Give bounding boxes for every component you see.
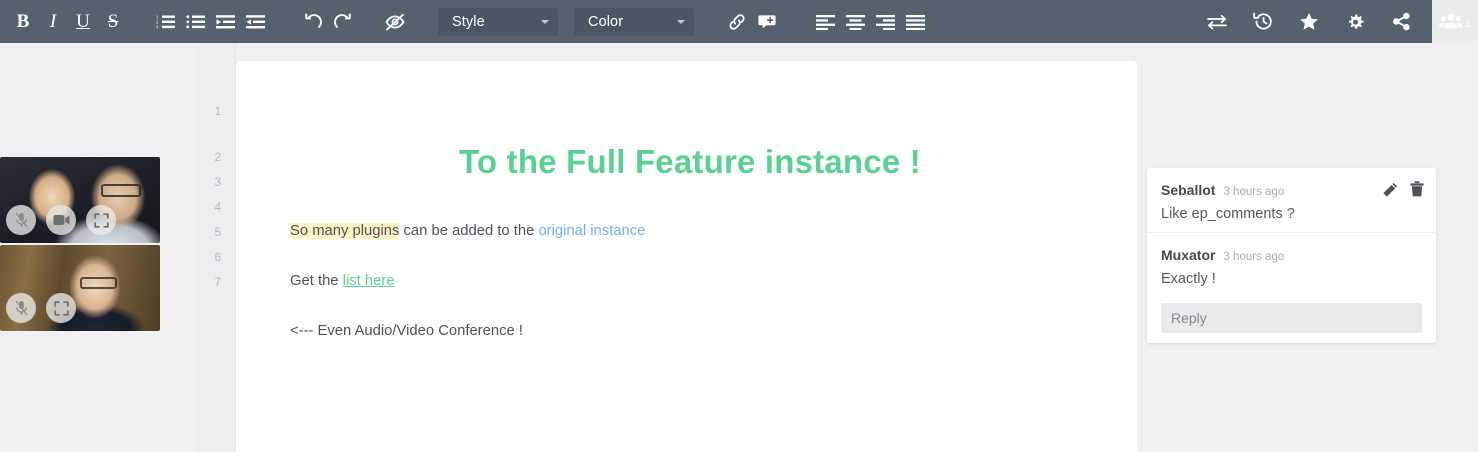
paragraph-text: can be added to the xyxy=(399,223,538,239)
history-clock-icon xyxy=(1253,12,1274,31)
ordered-list-icon: 1 2 3 xyxy=(156,14,175,30)
document-paragraph-2: Get the list here xyxy=(290,272,394,291)
video-tile-2-controls xyxy=(6,293,76,323)
comment-reply-input[interactable]: Reply xyxy=(1161,303,1422,333)
comment-header: Muxator 3 hours ago xyxy=(1161,247,1422,263)
document-paragraph-1: So many plugins can be added to the orig… xyxy=(290,222,645,241)
outdent-icon xyxy=(246,14,265,30)
import-export-button[interactable] xyxy=(1202,0,1232,43)
clear-authorship-button[interactable] xyxy=(380,0,410,43)
comment-author: Muxator xyxy=(1161,247,1215,263)
undo-button[interactable] xyxy=(298,0,328,43)
connected-users-count: 1 xyxy=(1464,19,1470,43)
insert-link-button[interactable] xyxy=(722,0,752,43)
watermark-text: 掘金技术社区 @ 小荣同学ai xyxy=(1157,447,1435,452)
redo-icon xyxy=(333,13,353,31)
align-justify-button[interactable] xyxy=(900,0,930,43)
fullscreen-button[interactable] xyxy=(86,205,116,235)
toolbar-left-group: B I U S 1 2 3 xyxy=(0,0,1202,43)
align-justify-icon xyxy=(906,14,925,30)
camera-button[interactable] xyxy=(46,205,76,235)
video-conference-panel xyxy=(0,157,160,331)
highlighted-text: So many plugins xyxy=(290,223,399,239)
comment-body: Like ep_comments ? xyxy=(1161,206,1422,222)
color-dropdown-label: Color xyxy=(588,14,623,30)
style-dropdown[interactable]: Style xyxy=(438,8,558,36)
pencil-icon[interactable] xyxy=(1383,182,1398,197)
align-center-button[interactable] xyxy=(840,0,870,43)
connected-users-button[interactable]: 1 xyxy=(1432,0,1478,43)
toolbar-right-group: 1 xyxy=(1202,0,1478,43)
underline-button[interactable]: U xyxy=(68,0,98,43)
comments-panel: Seballot 3 hours ago Like ep_comments ? xyxy=(1147,168,1436,343)
line-number-gutter: 1 2 3 4 5 6 7 xyxy=(195,43,236,452)
mic-muted-icon xyxy=(14,300,29,316)
indent-button[interactable] xyxy=(210,0,240,43)
style-dropdown-label: Style xyxy=(452,14,485,30)
list-here-link[interactable]: list here xyxy=(343,273,395,289)
import-export-icon xyxy=(1206,13,1228,31)
color-dropdown[interactable]: Color xyxy=(574,8,694,36)
eye-slash-icon xyxy=(384,13,406,31)
document-paragraph-3: <--- Even Audio/Video Conference ! xyxy=(290,322,523,341)
add-comment-button[interactable] xyxy=(752,0,782,43)
comment-author: Seballot xyxy=(1161,182,1215,198)
video-tile-2[interactable] xyxy=(0,245,160,331)
line-number: 1 xyxy=(215,106,221,118)
paragraph-text: Get the xyxy=(290,273,343,289)
line-number: 5 xyxy=(215,227,221,239)
underline-icon: U xyxy=(76,11,90,33)
unordered-list-button[interactable] xyxy=(180,0,210,43)
fullscreen-icon xyxy=(54,301,69,316)
fullscreen-icon xyxy=(94,213,109,228)
video-tile-1-controls xyxy=(6,205,116,235)
comment-actions xyxy=(1383,181,1424,197)
mic-mute-button[interactable] xyxy=(6,205,36,235)
link-icon xyxy=(727,13,747,31)
video-tile-1[interactable] xyxy=(0,157,160,243)
chevron-down-icon xyxy=(677,20,685,24)
comment-timestamp: 3 hours ago xyxy=(1223,251,1284,263)
align-center-icon xyxy=(846,14,865,30)
outdent-button[interactable] xyxy=(240,0,270,43)
camera-icon xyxy=(53,214,70,226)
align-left-icon xyxy=(816,14,835,30)
chevron-down-icon xyxy=(541,20,549,24)
settings-button[interactable] xyxy=(1340,0,1370,43)
comment-item: Seballot 3 hours ago Like ep_comments ? xyxy=(1147,168,1436,232)
comment-plus-icon xyxy=(757,13,777,31)
line-number: 6 xyxy=(215,252,221,264)
gear-icon xyxy=(1346,12,1365,31)
etherpad-editor-window: B I U S 1 2 3 xyxy=(0,0,1478,452)
italic-icon: I xyxy=(50,11,56,33)
editor-body: 1 2 3 4 5 6 7 To the Full Feature instan… xyxy=(0,43,1478,452)
timeslider-button[interactable] xyxy=(1248,0,1278,43)
undo-icon xyxy=(303,13,323,31)
indent-icon xyxy=(216,14,235,30)
editor-toolbar: B I U S 1 2 3 xyxy=(0,0,1478,43)
line-number: 2 xyxy=(215,152,221,164)
trash-icon[interactable] xyxy=(1410,181,1424,197)
comment-item: Muxator 3 hours ago Exactly ! xyxy=(1147,232,1436,297)
align-left-button[interactable] xyxy=(810,0,840,43)
redo-button[interactable] xyxy=(328,0,358,43)
align-right-button[interactable] xyxy=(870,0,900,43)
bold-icon: B xyxy=(17,11,30,33)
bold-button[interactable]: B xyxy=(8,0,38,43)
original-instance-link[interactable]: original instance xyxy=(538,223,645,239)
users-icon xyxy=(1439,12,1463,31)
ordered-list-button[interactable]: 1 2 3 xyxy=(150,0,180,43)
document-title: To the Full Feature instance ! xyxy=(290,143,1090,181)
italic-button[interactable]: I xyxy=(38,0,68,43)
line-number: 7 xyxy=(215,277,221,289)
fullscreen-button[interactable] xyxy=(46,293,76,323)
line-number: 4 xyxy=(215,202,221,214)
align-right-icon xyxy=(876,14,895,30)
comment-timestamp: 3 hours ago xyxy=(1223,186,1284,198)
document-canvas[interactable]: To the Full Feature instance ! So many p… xyxy=(236,61,1137,452)
strikethrough-button[interactable]: S xyxy=(98,0,128,43)
star-button[interactable] xyxy=(1294,0,1324,43)
unordered-list-icon xyxy=(186,14,205,30)
strikethrough-icon: S xyxy=(108,11,119,33)
mic-muted-icon xyxy=(14,212,29,228)
share-icon xyxy=(1392,12,1411,31)
share-button[interactable] xyxy=(1386,0,1416,43)
comment-body: Exactly ! xyxy=(1161,271,1422,287)
line-number: 3 xyxy=(215,177,221,189)
mic-mute-button[interactable] xyxy=(6,293,36,323)
star-icon xyxy=(1299,12,1319,31)
svg-text:3: 3 xyxy=(156,24,159,29)
